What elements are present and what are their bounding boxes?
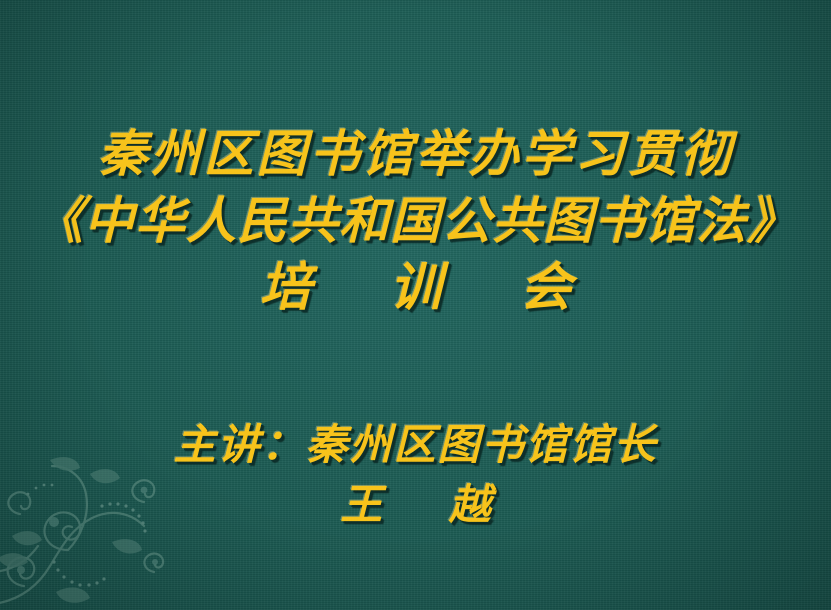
title-line-1: 秦州区图书馆举办学习贯彻: [0, 129, 831, 179]
presenter-role: 主讲：秦州区图书馆馆长: [0, 424, 831, 466]
floral-ornament-icon: [0, 454, 179, 610]
title-line-2-law-name: 《中华人民共和国公共图书馆法》: [0, 196, 831, 246]
presentation-slide: 秦州区图书馆举办学习贯彻 《中华人民共和国公共图书馆法》 培 训 会 主讲：秦州…: [0, 0, 831, 610]
presenter-name: 王 越: [0, 484, 831, 526]
title-line-3-event-type: 培 训 会: [0, 262, 831, 314]
